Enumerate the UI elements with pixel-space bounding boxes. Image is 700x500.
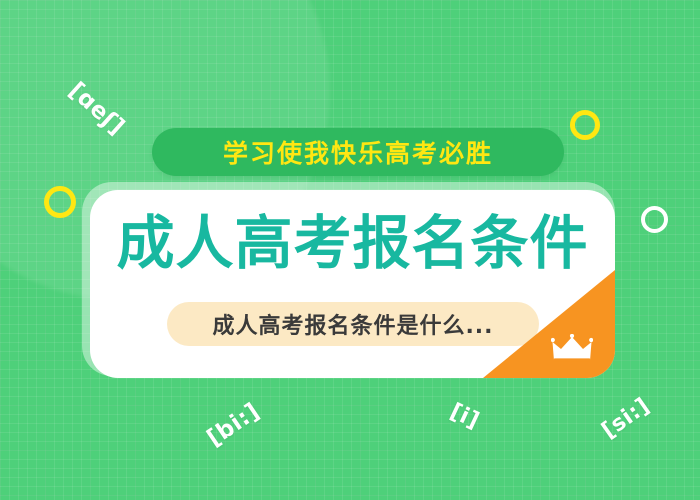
slogan-banner-text: 学习使我快乐高考必胜	[223, 134, 493, 170]
yellow-ring-decoration-left	[44, 186, 76, 218]
page-title: 成人高考报名条件	[90, 214, 615, 272]
main-content-card: 成人高考报名条件 成人高考报名条件是什么...	[90, 190, 615, 378]
subtitle-text: 成人高考报名条件是什么...	[212, 308, 493, 340]
crown-icon	[551, 334, 593, 364]
yellow-ring-decoration-top-right	[570, 110, 600, 140]
ipa-bracket-decoration-3: [i]	[446, 399, 483, 434]
subtitle-pill: 成人高考报名条件是什么...	[167, 302, 539, 346]
ipa-bracket-decoration-2: [bi:]	[203, 398, 265, 451]
poster-canvas: [ɑeʃ] [bi:] [i] [si:] 学习使我快乐高考必胜 成人高考报名条…	[0, 0, 700, 500]
ipa-bracket-decoration-4: [si:]	[598, 393, 655, 443]
slogan-banner: 学习使我快乐高考必胜	[152, 128, 564, 176]
white-ring-decoration-right	[641, 206, 668, 233]
